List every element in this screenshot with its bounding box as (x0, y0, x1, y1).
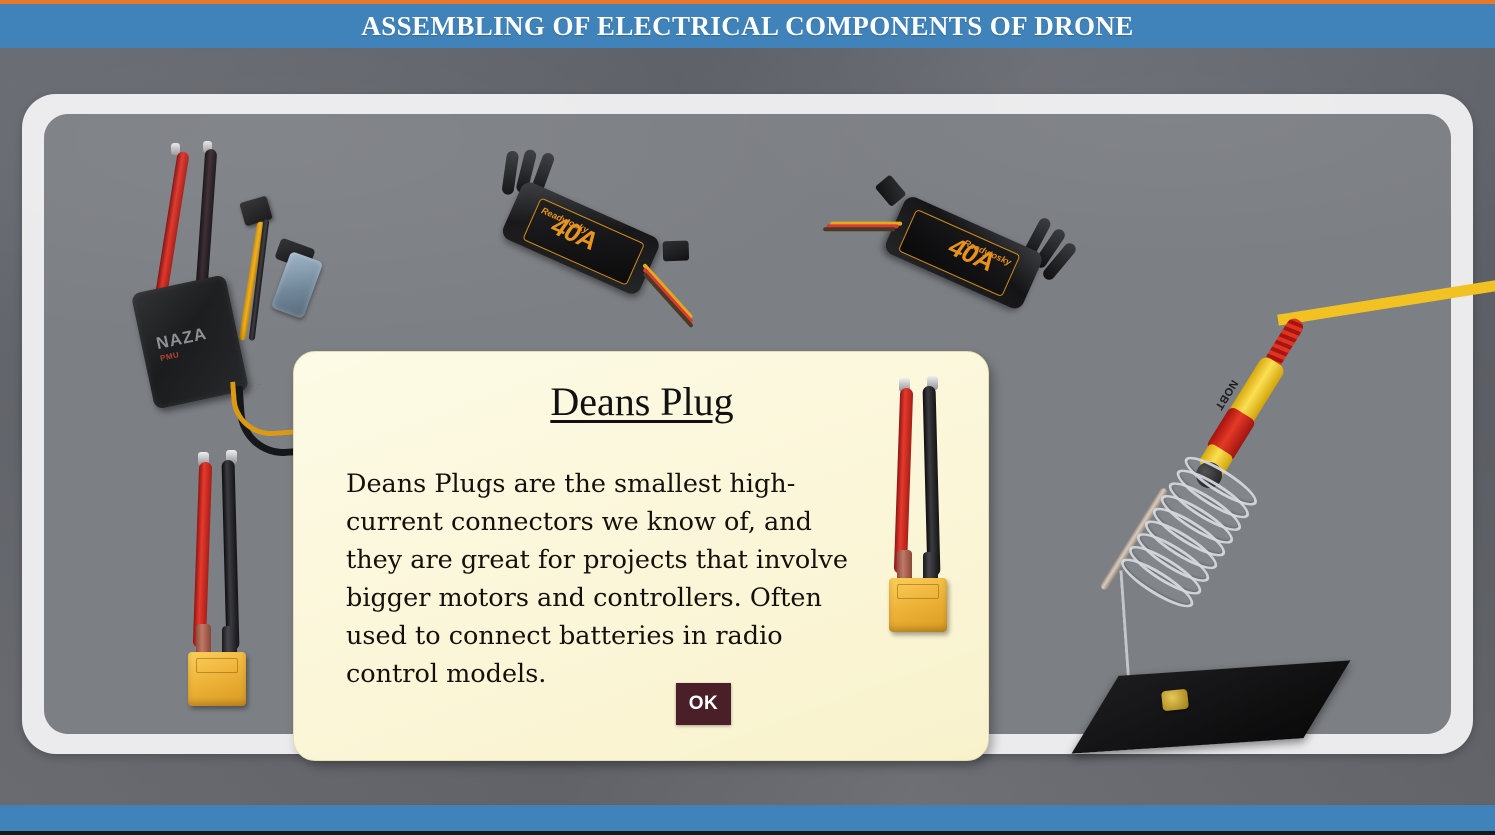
pmu-red-wire (154, 151, 189, 301)
xt60-left-housing (188, 652, 246, 706)
esc-right-wire-brown (823, 227, 895, 231)
soldering-iron-component[interactable]: NOBT (1090, 298, 1410, 718)
page-title: ASSEMBLING OF ELECTRICAL COMPONENTS OF D… (361, 11, 1133, 42)
xt60-dialog-housing (889, 578, 947, 632)
naza-pmu-component[interactable]: NAZA PMU (130, 133, 310, 433)
esc-right-servo-plug (875, 174, 907, 207)
xt60-connector-left[interactable] (178, 448, 268, 718)
xt60-dialog-red-wire (894, 388, 913, 574)
dialog-body-text: Deans Plugs are the smallest high-curren… (346, 465, 876, 693)
header-bar: ASSEMBLING OF ELECTRICAL COMPONENTS OF D… (0, 4, 1495, 48)
info-dialog: Deans Plug Deans Plugs are the smallest … (293, 351, 989, 761)
bottom-bar (0, 805, 1495, 831)
esc-left-wire-brown (643, 272, 694, 328)
xt60-dialog-black-wire (923, 386, 941, 576)
dialog-ok-label: OK (689, 693, 719, 715)
esc-left-wire-red (642, 267, 693, 323)
esc-left-servo-plug (662, 240, 689, 261)
scene-stage: NAZA PMU Readytosky 40A Readytos (0, 48, 1495, 805)
bottom-edge (0, 831, 1495, 835)
xt60-connector-dialog[interactable] (879, 374, 969, 644)
xt60-left-red-wire (193, 462, 212, 648)
presentation-screen: ASSEMBLING OF ELECTRICAL COMPONENTS OF D… (0, 0, 1495, 835)
xt60-left-black-wire (222, 460, 240, 650)
esc-left-wire-orange (642, 263, 693, 319)
dialog-ok-button[interactable]: OK (676, 683, 731, 725)
soldering-iron-base-screw (1161, 689, 1189, 712)
